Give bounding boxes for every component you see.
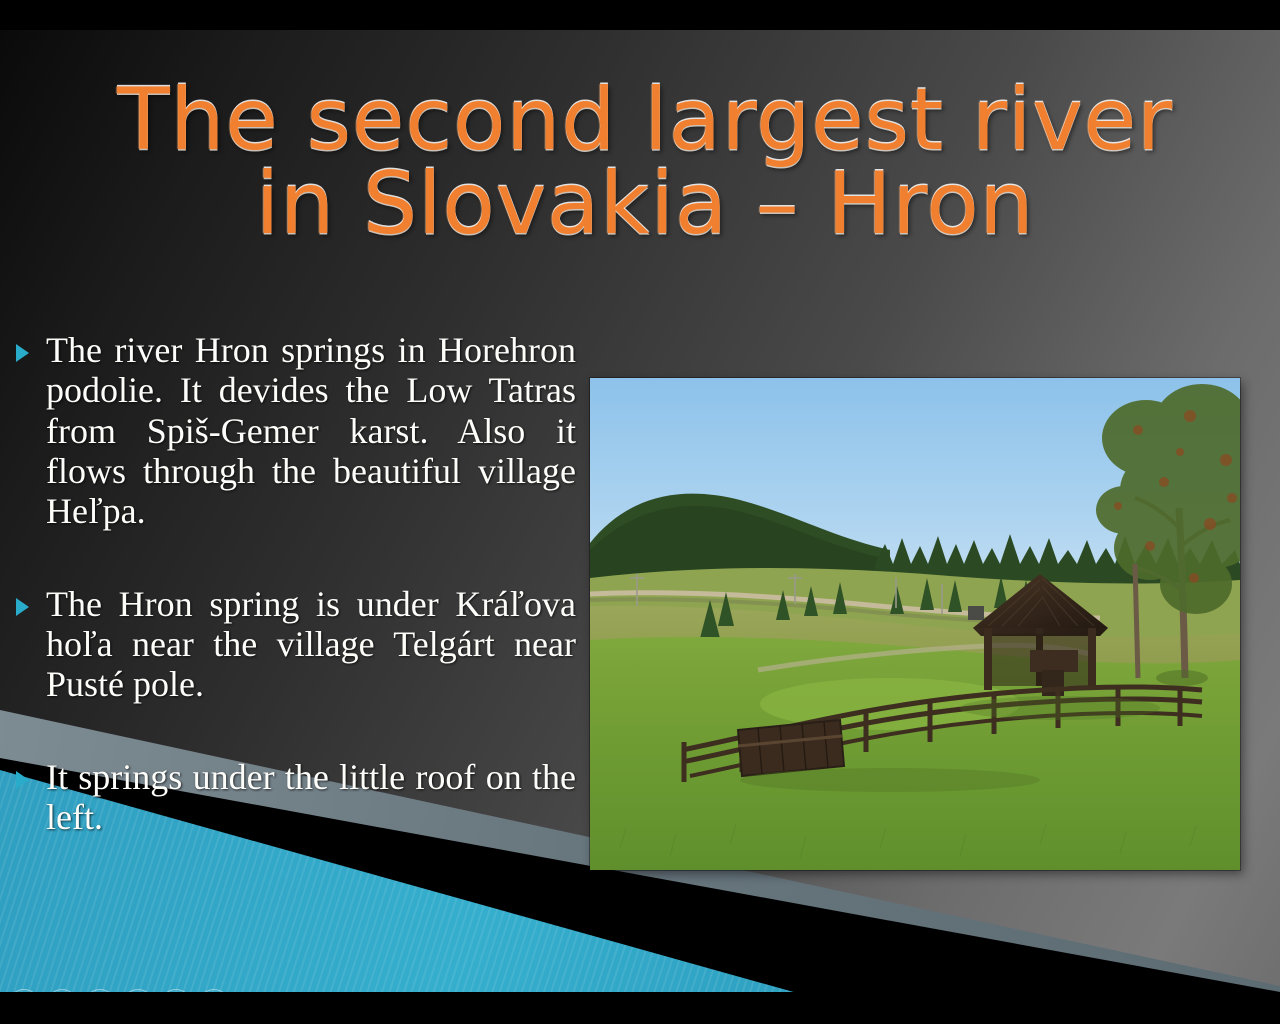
title-line-1: The second largest river <box>60 78 1230 162</box>
list-item: The Hron spring is under Kráľova hoľa ne… <box>16 584 576 705</box>
slide-photo <box>590 378 1240 870</box>
photo-illustration <box>590 378 1240 870</box>
slide-title-block: The second largest river in Slovakia – H… <box>60 78 1230 247</box>
letterbox-top <box>0 0 1280 30</box>
page-title: The second largest river in Slovakia – H… <box>60 78 1230 247</box>
bullet-text-1: The river Hron springs in Horehron podol… <box>46 330 576 532</box>
list-item: The river Hron springs in Horehron podol… <box>16 330 576 532</box>
bullet-text-3: It springs under the little roof on the … <box>46 757 576 838</box>
list-item: It springs under the little roof on the … <box>16 757 576 838</box>
presentation-slide: The second largest river in Slovakia – H… <box>0 0 1280 1024</box>
triangle-bullet-icon <box>16 330 46 367</box>
triangle-bullet-icon <box>16 757 46 794</box>
letterbox-bottom <box>0 992 1280 1024</box>
bullet-text-2: The Hron spring is under Kráľova hoľa ne… <box>46 584 576 705</box>
title-line-2: in Slovakia – Hron <box>60 162 1230 246</box>
slide-canvas: The second largest river in Slovakia – H… <box>0 30 1280 992</box>
slide-body: The river Hron springs in Horehron podol… <box>16 330 576 863</box>
triangle-bullet-icon <box>16 584 46 621</box>
